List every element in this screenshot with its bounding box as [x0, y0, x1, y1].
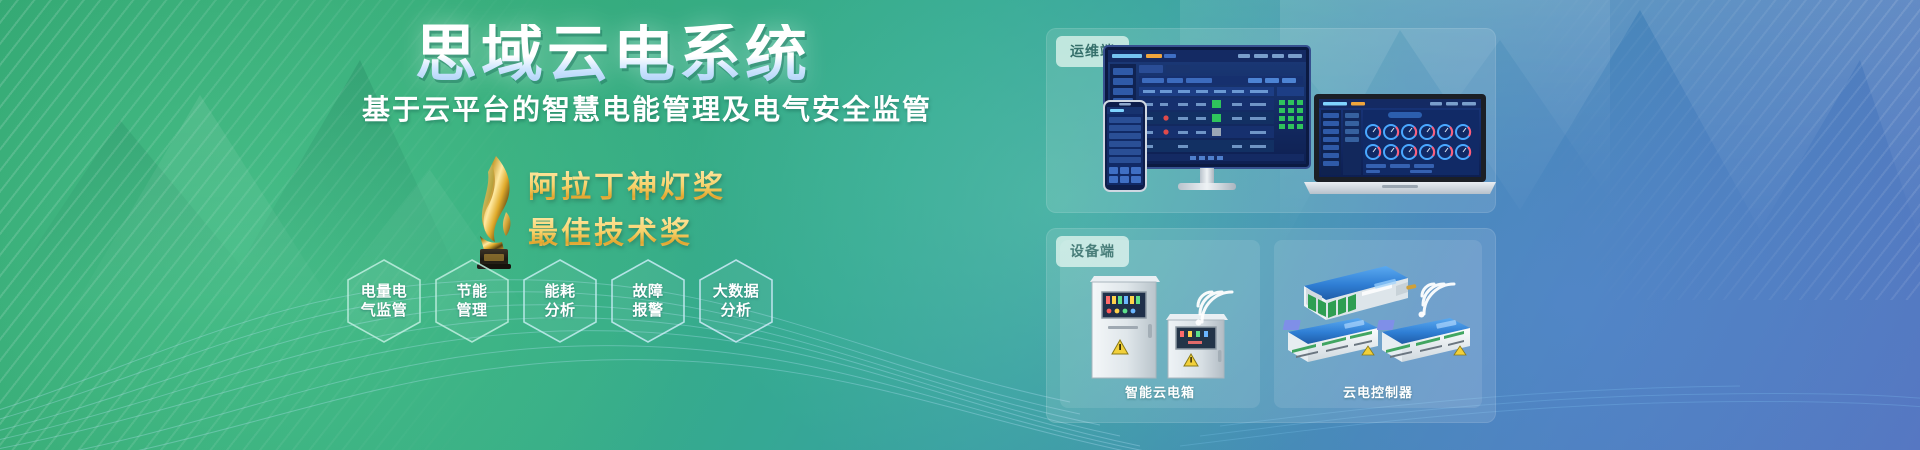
device-card-cabinet[interactable]: 智能云电箱 — [1060, 240, 1260, 408]
laptop-mockup — [1300, 92, 1500, 198]
feature-badge-list: 电量电 气监管 节能 管理 能耗 分析 故障 报警 — [345, 258, 775, 344]
feature-badge-label: 电量电 气监管 — [361, 282, 408, 320]
smartphone-mockup — [1103, 100, 1147, 192]
feature-badge-1[interactable]: 节能 管理 — [433, 258, 511, 344]
award-item-0: 阿拉丁神灯奖 — [528, 168, 858, 208]
feature-badge-3[interactable]: 故障 报警 — [609, 258, 687, 344]
electrical-cabinet-icon — [1078, 262, 1243, 382]
device-terminal-panel: 设备端 — [1046, 228, 1496, 423]
device-caption-cabinet: 智能云电箱 — [1060, 382, 1260, 401]
hero-text-column: 思域云电系统 基于云平台的智慧电能管理及电气安全监管 — [0, 0, 1020, 450]
feature-badge-label: 节能 管理 — [456, 282, 487, 320]
device-card-controller[interactable]: 云电控制器 — [1274, 240, 1482, 408]
device-caption-controller: 云电控制器 — [1274, 382, 1482, 401]
page-title: 思域云电系统 — [415, 24, 811, 86]
din-rail-controller-icon — [1282, 258, 1474, 382]
award-item-1: 最佳技术奖 — [528, 214, 858, 254]
page-subtitle: 基于云平台的智慧电能管理及电气安全监管 — [362, 95, 932, 126]
feature-badge-0[interactable]: 电量电 气监管 — [345, 258, 423, 344]
feature-badge-label: 能耗 分析 — [544, 282, 575, 320]
feature-badge-label: 大数据 分析 — [713, 282, 760, 320]
feature-badge-label: 故障 报警 — [632, 282, 663, 320]
award-list: 阿拉丁神灯奖 最佳技术奖 — [528, 168, 858, 254]
feature-badge-4[interactable]: 大数据 分析 — [697, 258, 775, 344]
feature-badge-2[interactable]: 能耗 分析 — [521, 258, 599, 344]
promo-banner: 思域云电系统 基于云平台的智慧电能管理及电气安全监管 — [0, 0, 1920, 450]
